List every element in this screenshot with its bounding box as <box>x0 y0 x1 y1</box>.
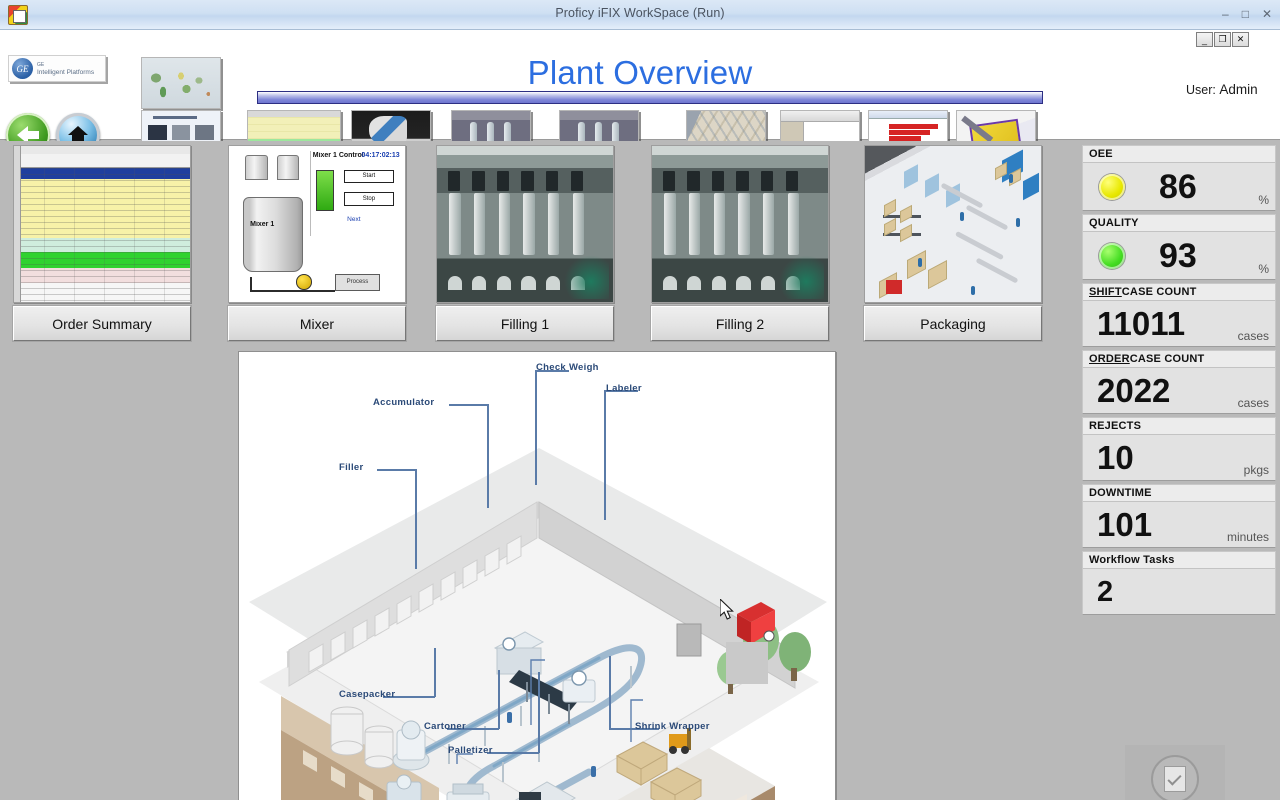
label-shrink-wrapper: Shrink Wrapper <box>635 721 710 732</box>
world-map-thumb[interactable] <box>141 57 221 109</box>
workflow-checklist-icon <box>1151 755 1199 800</box>
filling-1-card[interactable] <box>436 145 614 303</box>
kpi-downtime[interactable]: DOWNTIME 101 minutes <box>1082 484 1276 548</box>
kpi-rejects-value: 10 <box>1097 441 1134 475</box>
mixer-control-time: 04:17:02:13 <box>362 152 400 159</box>
filling-2-card[interactable] <box>651 145 829 303</box>
window-titlebar: Proficy iFIX WorkSpace (Run) – □ ✕ <box>0 0 1280 30</box>
order-summary-button-label: Order Summary <box>52 316 152 332</box>
mixer-next-link[interactable]: Next <box>347 216 360 223</box>
filling-2-button-label: Filling 2 <box>716 316 764 332</box>
mixer-control-title: Mixer 1 Control <box>313 152 364 159</box>
filling-1-button-label: Filling 1 <box>501 316 549 332</box>
mixer-start-button[interactable]: Start <box>344 170 395 184</box>
kpi-order-case-count-unit: cases <box>1238 396 1269 410</box>
kpi-downtime-value: 101 <box>1097 508 1152 542</box>
kpi-rejects-title: REJECTS <box>1083 418 1275 435</box>
kpi-oee-value: 86 <box>1159 170 1197 204</box>
mixer-schematic-art: Mixer 1 Mixer 1 Control 04:17:02:13 Star… <box>229 146 405 302</box>
application-window: Proficy iFIX WorkSpace (Run) – □ ✕ _ ❐ ✕… <box>0 0 1280 800</box>
window-controls[interactable]: – □ ✕ <box>1222 9 1272 19</box>
packaging-button[interactable]: Packaging <box>864 306 1042 341</box>
world-map-art <box>142 58 220 108</box>
mouse-cursor <box>720 599 736 623</box>
workflow-checklist-button[interactable] <box>1125 745 1225 800</box>
packaging-isometric-art <box>865 146 1041 302</box>
packaging-button-label: Packaging <box>920 316 985 332</box>
label-labeler: Labeler <box>606 383 642 394</box>
kpi-order-case-count[interactable]: ORDER CASE COUNT 2022 cases <box>1082 350 1276 414</box>
mixer-pump-icon <box>296 274 312 290</box>
mixer-button-label: Mixer <box>300 316 334 332</box>
mixer-stop-button[interactable]: Stop <box>344 192 395 206</box>
leader-accumulator <box>449 404 489 406</box>
mixer-process-box: Process <box>335 274 381 291</box>
label-filler: Filler <box>339 462 364 473</box>
kpi-oee-title: OEE <box>1083 146 1275 163</box>
packaging-card[interactable] <box>864 145 1042 303</box>
kpi-rejects[interactable]: REJECTS 10 pkgs <box>1082 417 1276 481</box>
title-underline-bar <box>257 91 1043 104</box>
kpi-workflow-tasks-value: 2 <box>1097 575 1113 609</box>
kpi-quality[interactable]: QUALITY 93 % <box>1082 214 1276 280</box>
kpi-quality-unit: % <box>1258 262 1269 276</box>
order-summary-card[interactable] <box>13 145 191 303</box>
filling-2-button[interactable]: Filling 2 <box>651 306 829 341</box>
maximize-icon[interactable]: □ <box>1242 9 1249 19</box>
label-check-weigh: Check Weigh <box>536 362 599 373</box>
mdi-restore-button[interactable]: ❐ <box>1214 32 1231 47</box>
back-arrow-icon <box>26 131 39 139</box>
kpi-shift-case-count[interactable]: SHIFTCASE COUNT 11011 cases <box>1082 283 1276 347</box>
kpi-workflow-tasks-title: Workflow Tasks <box>1083 552 1275 569</box>
label-accumulator: Accumulator <box>373 397 434 408</box>
filling-1-button[interactable]: Filling 1 <box>436 306 614 341</box>
mixer-card[interactable]: Mixer 1 Mixer 1 Control 04:17:02:13 Star… <box>228 145 406 303</box>
kpi-order-prefix: ORDER <box>1089 353 1130 365</box>
kpi-shift-prefix: SHIFT <box>1089 286 1122 298</box>
order-summary-button[interactable]: Order Summary <box>13 306 191 341</box>
minimize-icon[interactable]: – <box>1222 9 1229 19</box>
kpi-order-case-count-title: CASE COUNT <box>1130 353 1205 365</box>
label-cartoner: Cartoner <box>424 721 466 732</box>
kpi-workflow-tasks[interactable]: Workflow Tasks 2 <box>1082 551 1276 615</box>
leader-palletizer <box>487 752 539 754</box>
kpi-oee-led <box>1099 174 1125 200</box>
order-summary-table-art <box>14 146 190 302</box>
close-icon[interactable]: ✕ <box>1262 9 1272 19</box>
kpi-quality-value: 93 <box>1159 239 1197 273</box>
filling-1-photo-art <box>437 146 613 302</box>
main-content: Order Summary Mixer 1 Mixer 1 Control 04… <box>0 141 1280 800</box>
kpi-quality-led <box>1099 243 1125 269</box>
mdi-close-button[interactable]: ✕ <box>1232 32 1249 47</box>
header-sheet: _ ❐ ✕ User: Admin GE GE Intelligent Plat… <box>0 30 1280 140</box>
kpi-downtime-title: DOWNTIME <box>1083 485 1275 502</box>
kpi-downtime-unit: minutes <box>1227 530 1269 544</box>
mdi-minimize-button[interactable]: _ <box>1196 32 1213 47</box>
plant-layout-diagram[interactable]: Check Weigh Labeler Accumulator Filler C… <box>238 351 836 800</box>
mixer-button[interactable]: Mixer <box>228 306 406 341</box>
kpi-oee-unit: % <box>1258 193 1269 207</box>
window-title: Proficy iFIX WorkSpace (Run) <box>0 6 1280 20</box>
kpi-order-case-count-value: 2022 <box>1097 374 1170 408</box>
mdi-window-controls[interactable]: _ ❐ ✕ <box>1196 32 1249 47</box>
leader-filler <box>377 469 417 471</box>
kpi-sidebar: OEE 86 % QUALITY 93 % SHIFTCASE COUNT <box>1082 145 1276 741</box>
kpi-shift-case-count-unit: cases <box>1238 329 1269 343</box>
kpi-shift-case-count-value: 11011 <box>1097 307 1185 341</box>
label-casepacker: Casepacker <box>339 689 395 700</box>
mixer-level-gauge <box>316 170 334 211</box>
mixer-tank-label: Mixer 1 <box>250 221 274 228</box>
label-palletizer: Palletizer <box>448 745 493 756</box>
filling-2-photo-art <box>652 146 828 302</box>
kpi-rejects-unit: pkgs <box>1244 463 1269 477</box>
kpi-shift-case-count-title: CASE COUNT <box>1122 286 1197 298</box>
kpi-oee[interactable]: OEE 86 % <box>1082 145 1276 211</box>
kpi-quality-title: QUALITY <box>1083 215 1275 232</box>
